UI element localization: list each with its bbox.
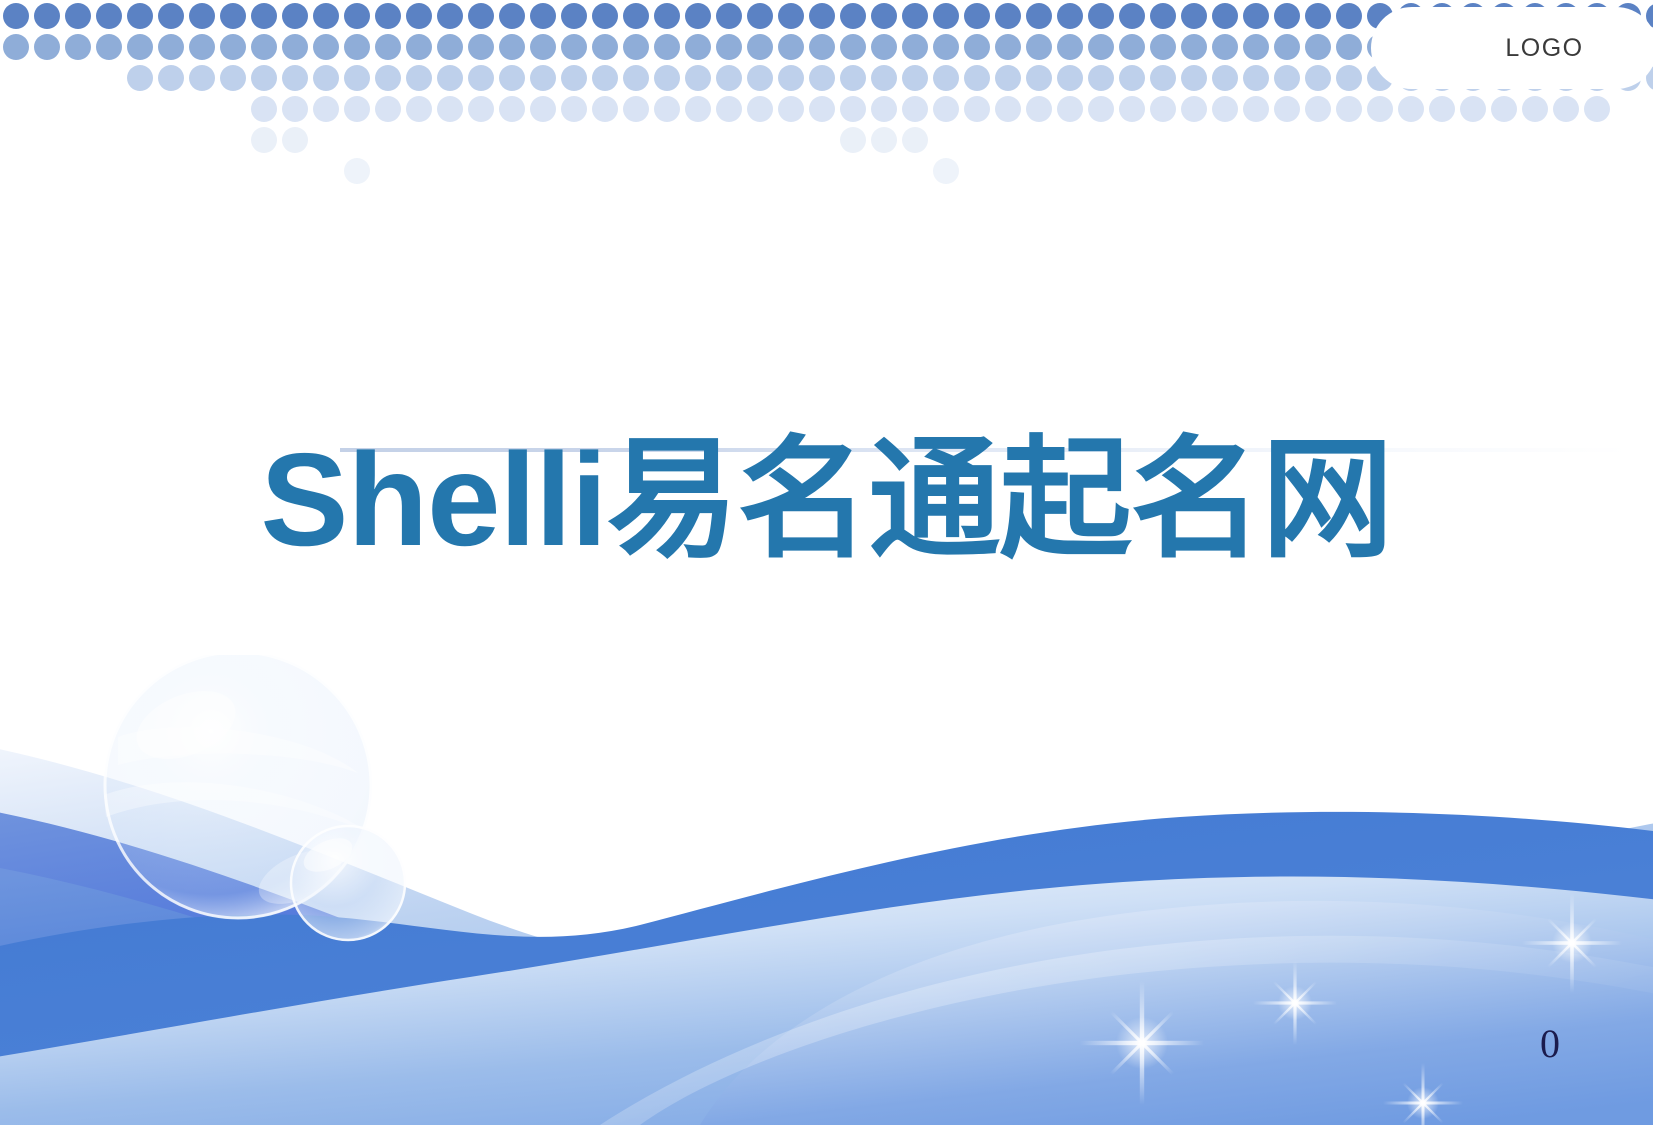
decorative-dot <box>65 34 91 60</box>
decorative-dot <box>1088 96 1114 122</box>
decorative-dot <box>499 3 525 29</box>
decorative-dot <box>1398 96 1424 122</box>
decorative-dot <box>933 158 959 184</box>
decorative-dot <box>468 34 494 60</box>
decorative-dot <box>778 3 804 29</box>
decorative-dot <box>778 34 804 60</box>
decorative-dot <box>1212 65 1238 91</box>
decorative-dot <box>1181 34 1207 60</box>
decorative-dot <box>840 65 866 91</box>
decorative-dot <box>1057 96 1083 122</box>
page-title: Shelli易名通起名网 <box>0 430 1653 570</box>
decorative-dot <box>127 34 153 60</box>
decorative-dot <box>1460 96 1486 122</box>
decorative-dot <box>623 3 649 29</box>
decorative-dot <box>1243 96 1269 122</box>
decorative-dot <box>964 3 990 29</box>
decorative-dot <box>1212 3 1238 29</box>
decorative-dot <box>530 34 556 60</box>
decorative-dot <box>1305 34 1331 60</box>
decorative-dot <box>995 96 1021 122</box>
decorative-dot <box>1429 96 1455 122</box>
decorative-dot <box>251 34 277 60</box>
decorative-dot <box>34 3 60 29</box>
decorative-dot <box>933 34 959 60</box>
decorative-dot <box>933 65 959 91</box>
decorative-dot <box>933 96 959 122</box>
decorative-dot <box>127 65 153 91</box>
decorative-dot <box>3 3 29 29</box>
decorative-dot <box>499 34 525 60</box>
decorative-dot <box>468 3 494 29</box>
decorative-dot <box>530 3 556 29</box>
decorative-dot <box>871 127 897 153</box>
decorative-dot <box>1274 65 1300 91</box>
logo-label: LOGO <box>1505 34 1583 63</box>
decorative-dot <box>809 65 835 91</box>
decorative-dot <box>1119 3 1145 29</box>
decorative-dot <box>1119 65 1145 91</box>
decorative-dot <box>499 65 525 91</box>
decorative-dot <box>623 34 649 60</box>
decorative-dot <box>406 34 432 60</box>
decorative-dot <box>1181 96 1207 122</box>
decorative-dot <box>1522 96 1548 122</box>
decorative-dot <box>344 158 370 184</box>
decorative-dot <box>1026 65 1052 91</box>
decorative-dot <box>1367 96 1393 122</box>
decorative-dot <box>995 3 1021 29</box>
decorative-dot <box>158 65 184 91</box>
decorative-dot <box>685 3 711 29</box>
decorative-dot <box>437 34 463 60</box>
decorative-dot <box>1212 34 1238 60</box>
decorative-dot <box>778 96 804 122</box>
decorative-dot <box>902 96 928 122</box>
decorative-dot <box>1088 3 1114 29</box>
decorative-dot <box>251 96 277 122</box>
decorative-dot <box>716 96 742 122</box>
decorative-dot <box>654 34 680 60</box>
decorative-dot <box>1026 34 1052 60</box>
decorative-dot <box>406 65 432 91</box>
decorative-dot <box>809 34 835 60</box>
decorative-dot <box>1491 96 1517 122</box>
decorative-dot <box>96 34 122 60</box>
decorative-dot <box>1305 65 1331 91</box>
decorative-dot <box>282 34 308 60</box>
decorative-dot <box>1336 3 1362 29</box>
decorative-dot <box>34 34 60 60</box>
decorative-dot <box>375 3 401 29</box>
decorative-dot <box>747 96 773 122</box>
decorative-dot <box>902 3 928 29</box>
decorative-dot <box>964 65 990 91</box>
decorative-dot <box>1336 34 1362 60</box>
decorative-dot <box>747 34 773 60</box>
decorative-dot <box>344 65 370 91</box>
decorative-dot <box>995 34 1021 60</box>
decorative-dot <box>902 65 928 91</box>
decorative-dot <box>189 3 215 29</box>
decorative-dot <box>1119 34 1145 60</box>
decorative-dot <box>561 96 587 122</box>
dot-grid-decoration <box>0 0 1653 200</box>
decorative-dot <box>1057 3 1083 29</box>
decorative-dot <box>251 3 277 29</box>
decorative-dot <box>127 3 153 29</box>
decorative-dot <box>995 65 1021 91</box>
decorative-dot <box>313 65 339 91</box>
decorative-dot <box>375 65 401 91</box>
decorative-dot <box>871 34 897 60</box>
decorative-dot <box>1243 34 1269 60</box>
decorative-dot <box>1336 65 1362 91</box>
decorative-dot <box>592 3 618 29</box>
bottom-wave-artwork <box>0 655 1653 1125</box>
decorative-dot <box>716 65 742 91</box>
decorative-dot <box>313 3 339 29</box>
decorative-dot <box>778 65 804 91</box>
decorative-dot <box>282 127 308 153</box>
decorative-dot <box>1088 34 1114 60</box>
decorative-dot <box>1367 65 1393 91</box>
decorative-dot <box>964 34 990 60</box>
decorative-dot <box>1057 34 1083 60</box>
decorative-dot <box>871 65 897 91</box>
decorative-dot <box>158 3 184 29</box>
decorative-dot <box>654 96 680 122</box>
decorative-dot <box>685 65 711 91</box>
decorative-dot <box>468 65 494 91</box>
decorative-dot <box>313 34 339 60</box>
decorative-dot <box>685 34 711 60</box>
decorative-dot <box>344 34 370 60</box>
decorative-dot <box>623 96 649 122</box>
decorative-dot <box>189 65 215 91</box>
decorative-dot <box>406 3 432 29</box>
decorative-dot <box>561 34 587 60</box>
decorative-dot <box>3 34 29 60</box>
decorative-dot <box>282 96 308 122</box>
decorative-dot <box>561 65 587 91</box>
decorative-dot <box>251 127 277 153</box>
decorative-dot <box>1336 96 1362 122</box>
decorative-dot <box>189 34 215 60</box>
decorative-dot <box>840 34 866 60</box>
decorative-dot <box>375 34 401 60</box>
page-number: 0 <box>1520 1020 1580 1067</box>
decorative-dot <box>375 96 401 122</box>
decorative-dot <box>437 3 463 29</box>
decorative-dot <box>623 65 649 91</box>
decorative-dot <box>561 3 587 29</box>
decorative-dot <box>313 96 339 122</box>
decorative-dot <box>1150 96 1176 122</box>
decorative-dot <box>1026 3 1052 29</box>
decorative-dot <box>158 34 184 60</box>
decorative-dot <box>1305 96 1331 122</box>
decorative-dot <box>344 96 370 122</box>
decorative-dot <box>1243 3 1269 29</box>
decorative-dot <box>1367 34 1393 60</box>
decorative-dot <box>1274 3 1300 29</box>
decorative-dot <box>65 3 91 29</box>
decorative-dot <box>1150 3 1176 29</box>
logo-placeholder[interactable]: LOGO <box>1412 7 1653 89</box>
decorative-dot <box>1553 96 1579 122</box>
decorative-dot <box>530 65 556 91</box>
decorative-dot <box>1584 96 1610 122</box>
decorative-dot <box>220 34 246 60</box>
decorative-dot <box>685 96 711 122</box>
decorative-dot <box>1305 3 1331 29</box>
decorative-dot <box>716 3 742 29</box>
decorative-dot <box>282 3 308 29</box>
decorative-dot <box>1026 96 1052 122</box>
decorative-dot <box>1150 65 1176 91</box>
decorative-dot <box>1274 34 1300 60</box>
decorative-dot <box>809 3 835 29</box>
decorative-dot <box>840 96 866 122</box>
decorative-dot <box>840 3 866 29</box>
decorative-dot <box>251 65 277 91</box>
decorative-dot <box>871 3 897 29</box>
decorative-dot <box>1057 65 1083 91</box>
decorative-dot <box>344 3 370 29</box>
decorative-dot <box>468 96 494 122</box>
decorative-dot <box>747 3 773 29</box>
decorative-dot <box>902 34 928 60</box>
decorative-dot <box>592 34 618 60</box>
decorative-dot <box>1119 96 1145 122</box>
decorative-dot <box>747 65 773 91</box>
decorative-dot <box>716 34 742 60</box>
decorative-dot <box>282 65 308 91</box>
decorative-dot <box>1274 96 1300 122</box>
decorative-dot <box>654 3 680 29</box>
decorative-dot <box>96 3 122 29</box>
decorative-dot <box>1088 65 1114 91</box>
decorative-dot <box>220 3 246 29</box>
decorative-dot <box>592 96 618 122</box>
decorative-dot <box>1181 3 1207 29</box>
decorative-dot <box>964 96 990 122</box>
presentation-slide: LOGO <box>0 0 1653 1125</box>
decorative-dot <box>933 3 959 29</box>
decorative-dot <box>1367 3 1393 29</box>
decorative-dot <box>654 65 680 91</box>
decorative-dot <box>220 65 246 91</box>
decorative-dot <box>499 96 525 122</box>
decorative-dot <box>406 96 432 122</box>
decorative-dot <box>592 65 618 91</box>
decorative-dot <box>1150 34 1176 60</box>
decorative-dot <box>437 65 463 91</box>
decorative-dot <box>1181 65 1207 91</box>
decorative-dot <box>840 127 866 153</box>
decorative-dot <box>1212 96 1238 122</box>
decorative-dot <box>871 96 897 122</box>
decorative-dot <box>1243 65 1269 91</box>
decorative-dot <box>809 96 835 122</box>
decorative-dot <box>530 96 556 122</box>
decorative-dot <box>902 127 928 153</box>
decorative-dot <box>437 96 463 122</box>
